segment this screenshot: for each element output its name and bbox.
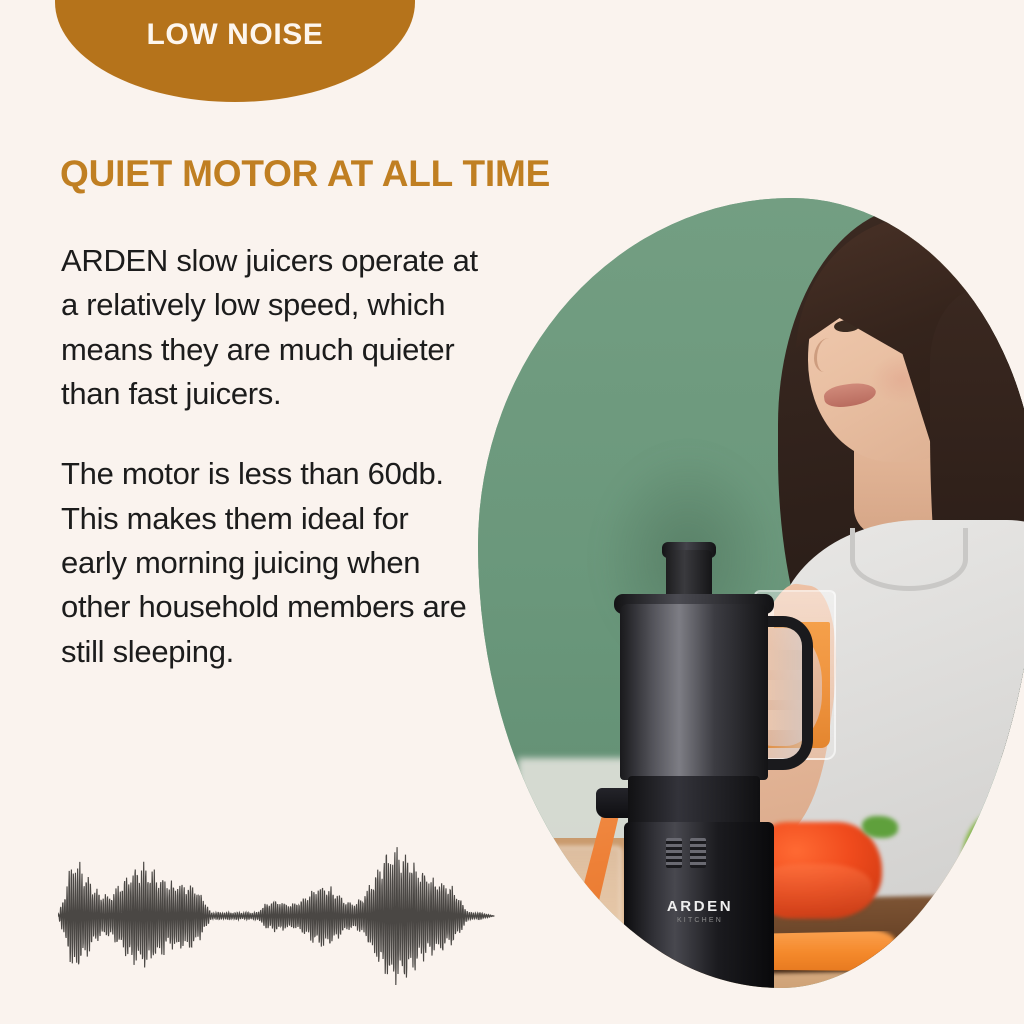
product-logo: ARDEN [648,898,752,915]
woman-nose [814,338,839,372]
product-logo-subtitle: KITCHEN [648,917,752,924]
infographic-canvas: LOW NOISE QUIET MOTOR AT ALL TIME ARDEN … [0,0,1024,1024]
page-title: QUIET MOTOR AT ALL TIME [60,155,550,194]
body-paragraph-1: ARDEN slow juicers operate at a relative… [61,239,481,416]
juicer-vent [666,838,682,868]
catching-glass-juice [514,924,616,984]
low-noise-badge: LOW NOISE [55,0,415,102]
red-onion [930,888,1022,972]
juicer-midsection [628,776,760,828]
shirt-collar [850,528,968,591]
pepper-stem [862,816,898,838]
lifestyle-photo: ARDEN KITCHEN [478,198,1024,988]
audio-waveform-graphic [58,832,498,1000]
juicer-vent [690,838,706,868]
body-paragraph-2: The motor is less than 60db. This makes … [61,452,481,674]
badge-label: LOW NOISE [146,20,323,50]
body-copy: ARDEN slow juicers operate at a relative… [61,239,481,674]
juicer-chamber [620,604,768,780]
